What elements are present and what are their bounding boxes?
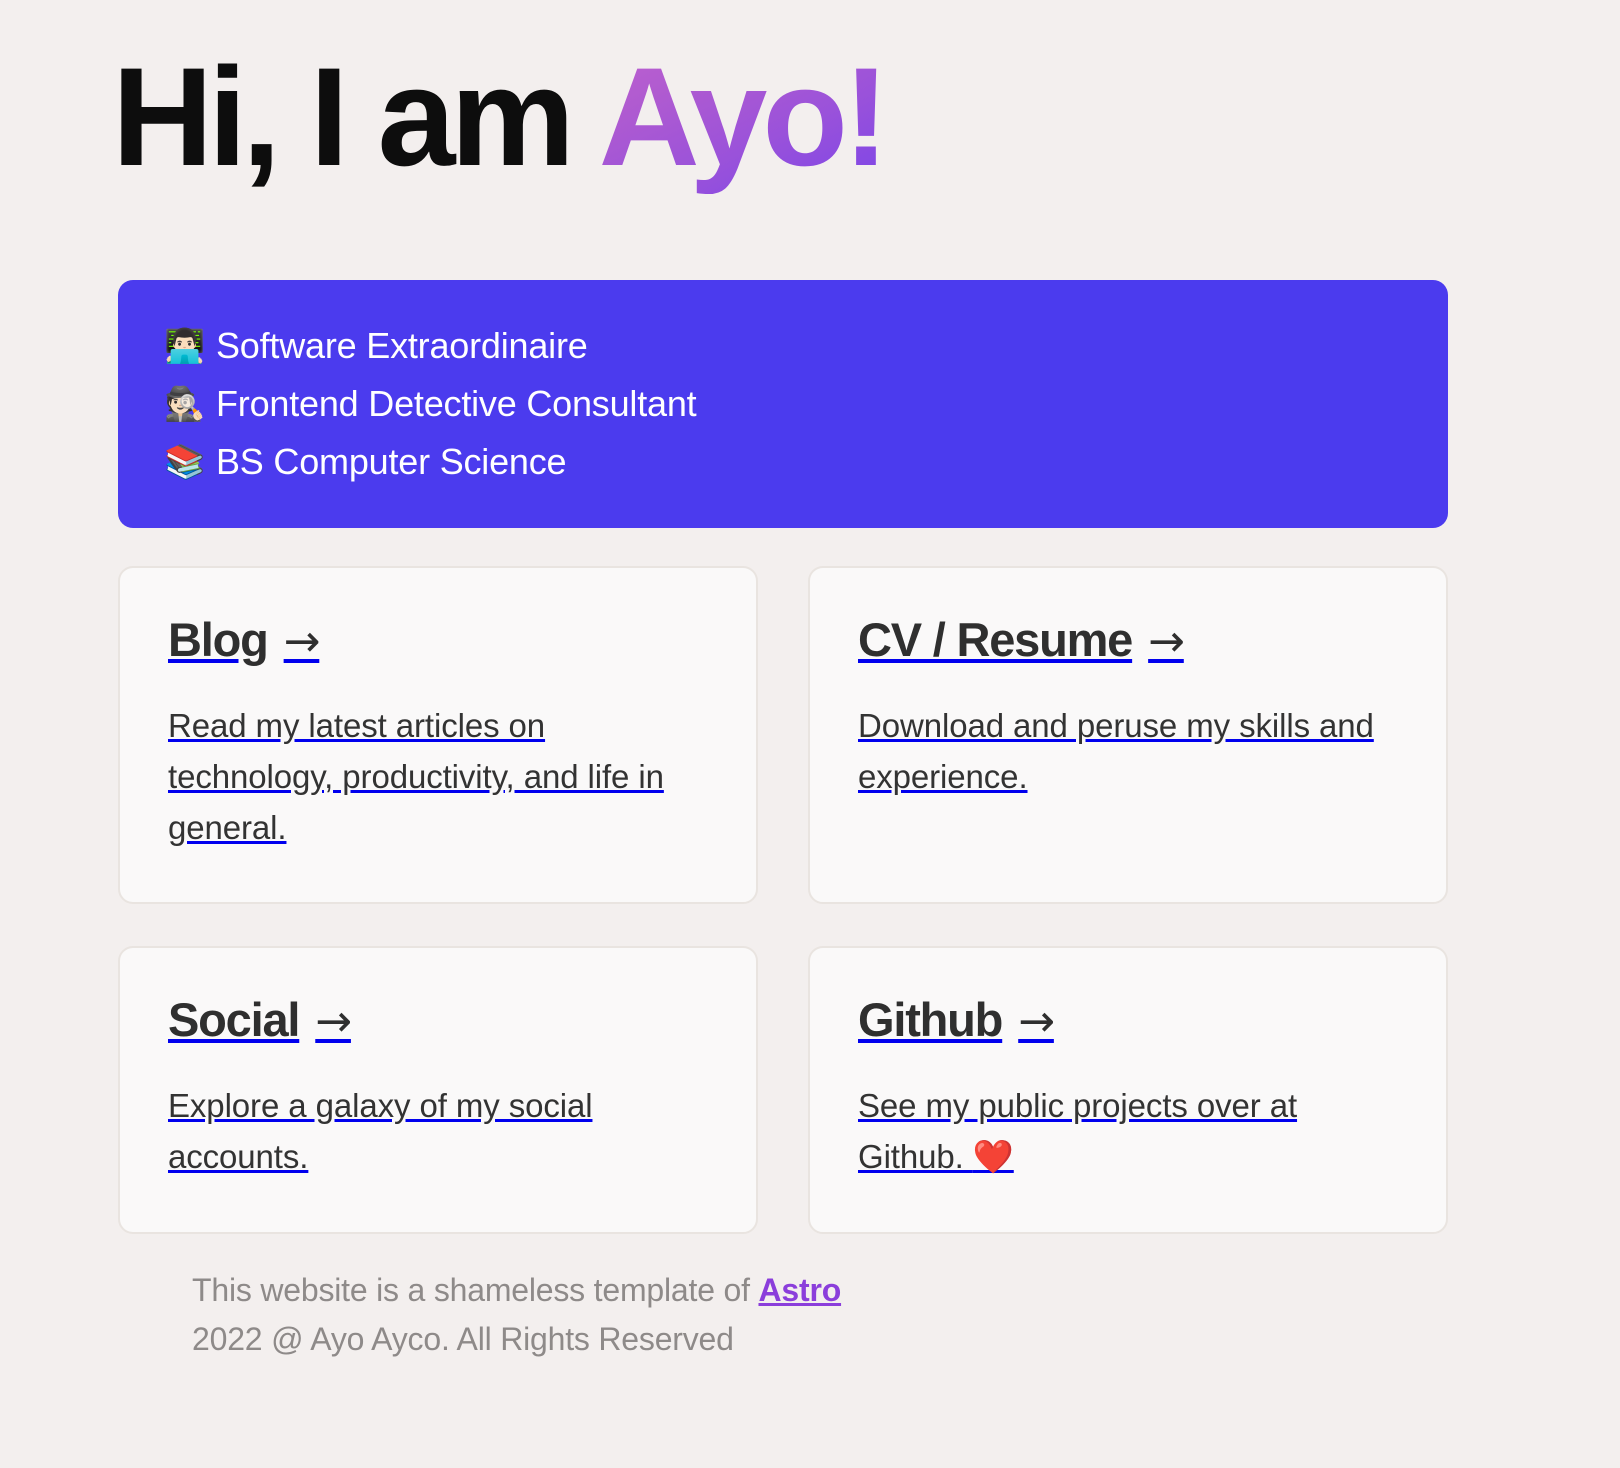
link-card-grid: Blog → Read my latest articles on techno… [118,566,1448,1234]
arrow-right-icon: → [1018,998,1054,1046]
card-title: CV / Resume → [858,614,1398,666]
card-title-text: Social [168,994,299,1046]
detective-emoji: 🕵🏻 [164,375,216,433]
banner-item-label: Software Extraordinaire [216,317,588,375]
card-title: Blog → [168,614,708,666]
arrow-right-icon: → [1148,618,1184,666]
card-description: Download and peruse my skills and experi… [858,700,1398,802]
card-description: Explore a galaxy of my social accounts. [168,1080,708,1182]
card-title-text: Blog [168,614,268,666]
footer-credit-line: This website is a shameless template of … [192,1266,1392,1315]
hero-name-accent: Ayo! [599,38,885,195]
arrow-right-icon: → [284,618,320,666]
card-description: See my public projects over at Github. ❤… [858,1080,1398,1182]
books-emoji: 📚 [164,433,216,491]
banner-item-label: Frontend Detective Consultant [216,375,696,433]
footer: This website is a shameless template of … [192,1266,1392,1364]
hero-section: Hi, I am Ayo! [112,46,1512,189]
intro-banner: 👨🏻‍💻 Software Extraordinaire 🕵🏻 Frontend… [118,280,1448,528]
card-cv-resume[interactable]: CV / Resume → Download and peruse my ski… [808,566,1448,904]
card-blog[interactable]: Blog → Read my latest articles on techno… [118,566,758,904]
banner-item-label: BS Computer Science [216,433,566,491]
astro-link[interactable]: Astro [758,1272,841,1308]
card-title: Social → [168,994,708,1046]
card-social[interactable]: Social → Explore a galaxy of my social a… [118,946,758,1234]
arrow-right-icon: → [315,998,351,1046]
homepage: Hi, I am Ayo! 👨🏻‍💻 Software Extraordinai… [0,0,1620,1468]
banner-item-degree: 📚 BS Computer Science [164,433,1402,491]
footer-credit-prefix: This website is a shameless template of [192,1272,758,1308]
banner-item-software: 👨🏻‍💻 Software Extraordinaire [164,317,1402,375]
card-title-text: CV / Resume [858,614,1132,666]
card-description-text: See my public projects over at Github. [858,1087,1297,1175]
card-description: Read my latest articles on technology, p… [168,700,708,853]
red-heart-emoji: ❤️ [973,1137,1014,1176]
man-technologist-emoji: 👨🏻‍💻 [164,317,216,375]
page-title: Hi, I am Ayo! [112,46,1512,189]
card-github[interactable]: Github → See my public projects over at … [808,946,1448,1234]
footer-copyright: 2022 @ Ayo Ayco. All Rights Reserved [192,1315,1392,1364]
hero-greeting: Hi, I am [112,38,599,195]
card-title-text: Github [858,994,1002,1046]
banner-item-frontend: 🕵🏻 Frontend Detective Consultant [164,375,1402,433]
card-title: Github → [858,994,1398,1046]
